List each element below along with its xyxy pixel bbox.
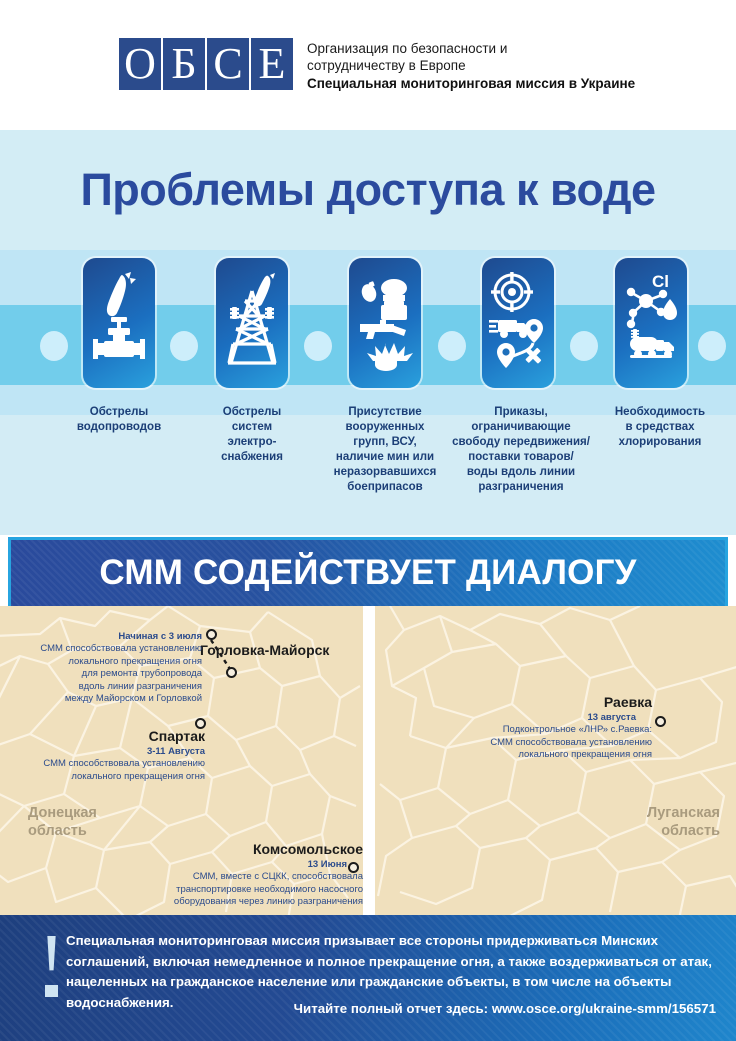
page-title: Проблемы доступа к воде [0,164,736,216]
place-raevka[interactable]: Раевка 13 августа Подконтрольное «ЛНР» с… [420,694,652,762]
problem-label-5: Необходимость в средствах хлорирования [592,405,728,450]
footer-url[interactable]: www.osce.org/ukraine-smm/156571 [492,1001,716,1016]
place-description: СММ способствовала установлению локально… [10,643,202,706]
bomb-pipeline-icon [91,271,147,375]
bomb-power-pylon-icon [223,271,281,375]
header-branding: О Б С Е Организация по безопасности и со… [119,38,635,93]
region-label-luhansk: Луганская область [598,804,720,840]
place-date: 13 Июня [95,858,363,871]
place-gorlovka-mayorsk-info: Начиная с 3 июля СММ способствовала уста… [10,630,202,706]
place-description: Подконтрольное «ЛНР» с.Раевка: СММ спосо… [420,724,652,762]
problem-card-4[interactable] [482,258,554,388]
place-date: 13 августа [420,711,652,724]
exclamation-dot-icon [45,985,58,997]
svg-text:Cl: Cl [652,272,669,291]
problem-label-4: Приказы, ограничивающие свободу передвиж… [432,405,610,495]
problem-labels-row: Обстрелы водопроводов Обстрелы систем эл… [0,405,736,535]
footer-read-label: Читайте полный отчет здесь: [294,1001,492,1016]
banner-body: СММ СОДЕЙСТВУЕТ ДИАЛОГУ [11,540,725,606]
osce-logo: О Б С Е [119,38,293,90]
place-description: СММ способствовала установлению локально… [20,758,205,783]
banner-title: СММ СОДЕЙСТВУЕТ ДИАЛОГУ [99,553,636,593]
logo-letter-s: С [207,38,249,90]
map-connector-dashed [205,631,239,675]
place-date: 3-11 Августа [20,745,205,758]
armed-group-mine-icon [356,271,414,375]
page-header: О Б С Е Организация по безопасности и со… [0,0,736,130]
chlorine-truck-icon: Cl [622,271,680,375]
problem-card-2[interactable] [216,258,288,388]
place-name: Спартак [20,728,205,745]
place-date: Начиная с 3 июля [10,630,202,643]
map-marker-komsomolskoye[interactable] [348,862,359,873]
problem-label-2: Обстрелы систем электро- снабжения [182,405,322,465]
region-label-donetsk: Донецкая область [28,804,146,840]
place-name: Комсомольское [95,841,363,858]
problem-card-3[interactable] [349,258,421,388]
place-komsomolskoye[interactable]: Комсомольское 13 Июня СММ, вместе с СЦКК… [95,841,363,909]
place-name: Раевка [420,694,652,711]
problem-card-1[interactable] [83,258,155,388]
footer-report-link[interactable]: Читайте полный отчет здесь: www.osce.org… [0,1001,716,1016]
problem-icons-row: Cl [0,258,736,410]
place-spartak[interactable]: Спартак 3-11 Августа СММ способствовала … [20,728,205,783]
dialogue-map: Донецкая область Луганская область Горло… [0,606,736,915]
logo-letter-e: Е [251,38,293,90]
logo-letter-o: О [119,38,161,90]
problem-label-1: Обстрелы водопроводов [49,405,189,435]
org-line-1: Организация по безопасности и [307,40,635,57]
logo-letter-b: Б [163,38,205,90]
organization-name: Организация по безопасности и сотрудниче… [307,38,635,93]
dialogue-banner: СММ СОДЕЙСТВУЕТ ДИАЛОГУ [0,535,736,615]
map-marker-raevka[interactable] [655,716,666,727]
problems-section: Проблемы доступа к воде [0,130,736,535]
org-line-2: сотрудничеству в Европе [307,57,635,74]
place-description: СММ, вместе с СЦКК, способствовала транс… [95,871,363,909]
map-contact-line [363,606,375,915]
problem-card-5[interactable]: Cl [615,258,687,388]
mission-name: Специальная мониторинговая миссия в Укра… [307,75,635,93]
restricted-movement-icon [489,271,547,375]
